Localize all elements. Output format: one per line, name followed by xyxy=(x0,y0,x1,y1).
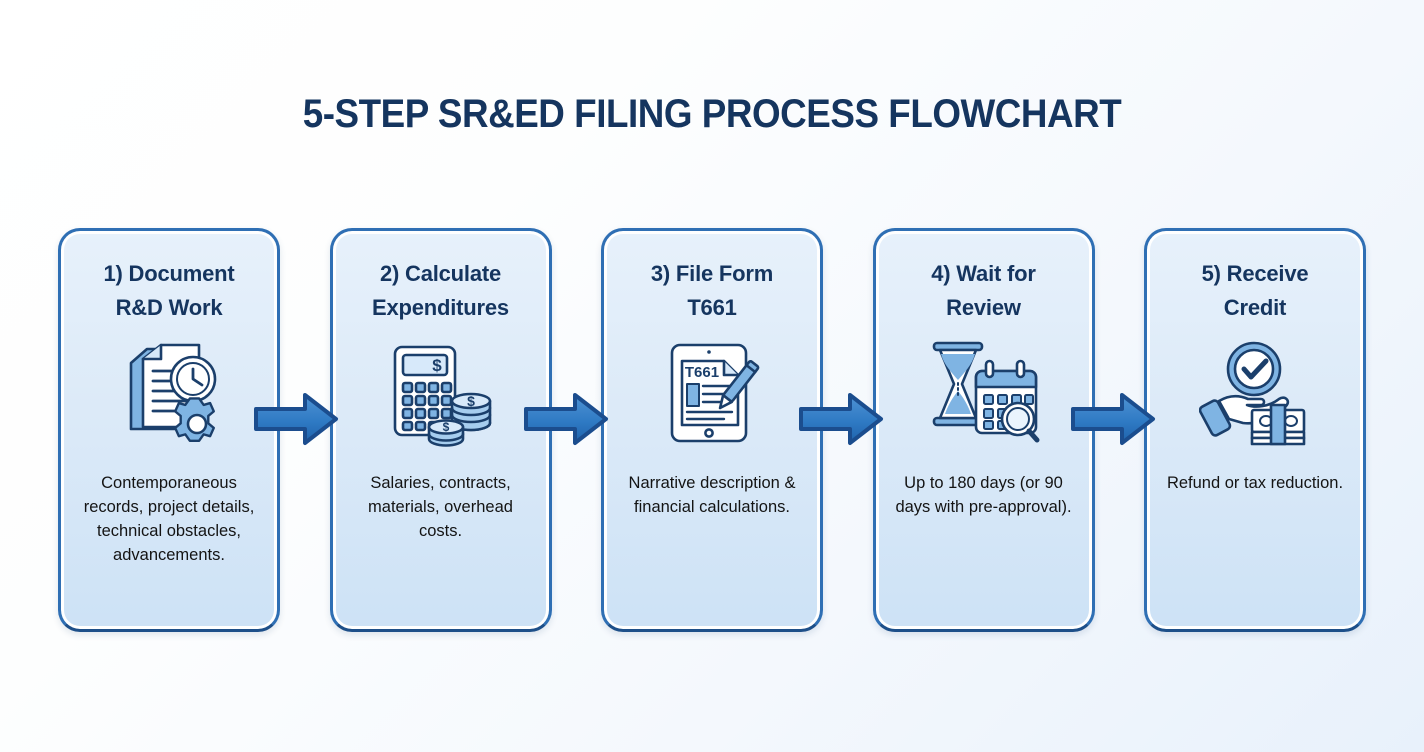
step-heading-5: 5) Receive Credit xyxy=(1202,257,1309,325)
tablet-form-pencil-icon: T661 xyxy=(656,339,768,447)
arrow-step1-to-step2 xyxy=(253,390,339,448)
step-description-1: Contemporaneous records, project details… xyxy=(75,471,263,567)
page-title: 5-STEP SR&ED FILING PROCESS FLOWCHART xyxy=(57,92,1367,137)
step-card-5[interactable]: 5) Receive Credit xyxy=(1144,228,1366,632)
svg-text:$: $ xyxy=(442,420,449,434)
step-heading-3: 3) File Form T661 xyxy=(651,257,773,325)
step-card-3[interactable]: 3) File Form T661 T661 xyxy=(601,228,823,632)
step-heading-3-line2: T661 xyxy=(687,295,736,320)
step-heading-1-line2: R&D Work xyxy=(116,295,223,320)
step-description-5: Refund or tax reduction. xyxy=(1167,471,1343,495)
step-description-2: Salaries, contracts, materials, overhead… xyxy=(347,471,535,543)
step-heading-3-line1: 3) File Form xyxy=(651,261,773,286)
arrow-step4-to-step5 xyxy=(1070,390,1156,448)
step-heading-4-line2: Review xyxy=(946,295,1021,320)
step-heading-4-line1: 4) Wait for xyxy=(931,261,1036,286)
step-heading-2: 2) Calculate Expenditures xyxy=(372,257,509,325)
svg-text:$: $ xyxy=(432,356,442,375)
document-clock-gear-icon xyxy=(113,339,225,447)
step-heading-2-line2: Expenditures xyxy=(372,295,509,320)
step-heading-5-line1: 5) Receive xyxy=(1202,261,1309,286)
step-card-2[interactable]: 2) Calculate Expenditures $ xyxy=(330,228,552,632)
step-description-3: Narrative description & financial calcul… xyxy=(618,471,806,519)
arrow-step2-to-step3 xyxy=(523,390,609,448)
calculator-coins-icon: $ xyxy=(385,339,497,447)
flowchart-canvas: 5-STEP SR&ED FILING PROCESS FLOWCHART 1)… xyxy=(0,0,1424,752)
hand-check-money-icon xyxy=(1199,339,1311,447)
step-description-4: Up to 180 days (or 90 days with pre-appr… xyxy=(890,471,1078,519)
step-heading-5-line2: Credit xyxy=(1224,295,1286,320)
step-heading-1: 1) Document R&D Work xyxy=(103,257,234,325)
arrow-step3-to-step4 xyxy=(798,390,884,448)
step-card-1[interactable]: 1) Document R&D Work xyxy=(58,228,280,632)
form-number-label: T661 xyxy=(685,364,719,381)
step-heading-2-line1: 2) Calculate xyxy=(380,261,501,286)
svg-text:$: $ xyxy=(467,393,475,409)
hourglass-calendar-magnifier-icon xyxy=(928,339,1040,447)
step-heading-1-line1: 1) Document xyxy=(103,261,234,286)
step-card-4[interactable]: 4) Wait for Review xyxy=(873,228,1095,632)
step-heading-4: 4) Wait for Review xyxy=(931,257,1036,325)
